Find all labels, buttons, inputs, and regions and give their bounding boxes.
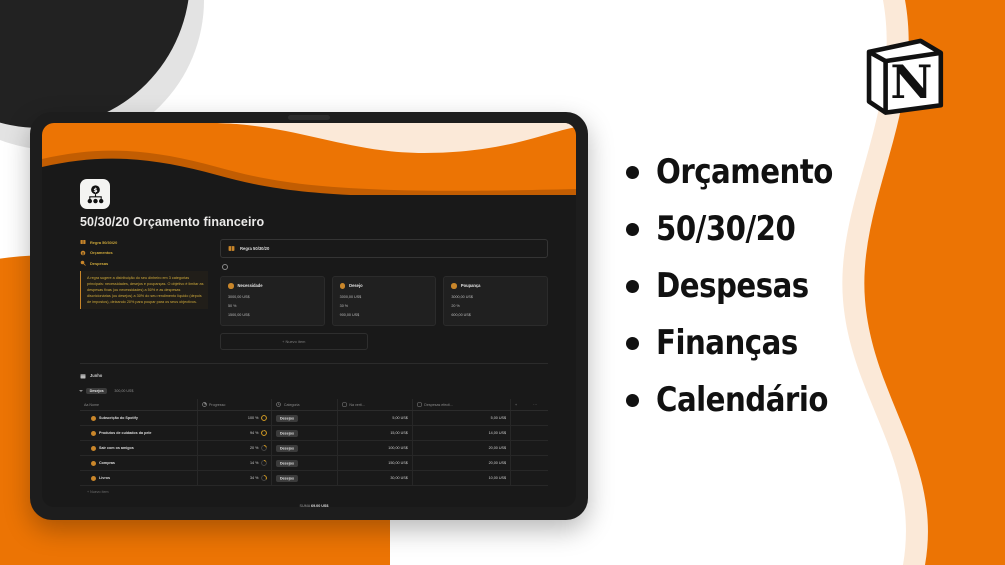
table-sum-row: SUMA 69,00 US$ xyxy=(80,498,548,507)
bullet-label: Finanças xyxy=(656,326,798,360)
row-name: Livros xyxy=(99,476,110,482)
circle-spinner-icon xyxy=(222,264,228,270)
budget-card-name: Desejo xyxy=(349,283,362,288)
bullet-dot-icon xyxy=(626,166,639,179)
bullet-label: Despesas xyxy=(656,269,809,303)
row-planned: 30,00 US$ xyxy=(337,471,412,486)
sidebar-item-label: Regra 50/30/20 xyxy=(90,240,117,245)
sidebar-item-regra[interactable]: Regra 50/30/20 xyxy=(80,239,208,245)
bullet-dot-icon xyxy=(626,280,639,293)
row-category: Desejos xyxy=(276,460,297,467)
coin-icon xyxy=(91,416,96,421)
row-progress: 94 % xyxy=(250,431,258,435)
sidebar-item-despesas[interactable]: Despesas xyxy=(80,260,208,266)
notion-page-cover xyxy=(42,123,576,195)
row-category: Desejos xyxy=(276,415,297,422)
row-planned: 5,00 US$ xyxy=(337,411,412,426)
list-item: 50/30/20 xyxy=(626,212,926,246)
progress-ring-icon xyxy=(261,415,267,421)
budget-card[interactable]: Desejo 3000,00 US$ 30 % 900,00 US$ xyxy=(332,276,437,326)
table-header-label: Aa Nome xyxy=(84,403,99,407)
coin-icon xyxy=(451,283,457,289)
page-right-column: Regra 50/30/20 Necessidade 3000,00 US$ 5… xyxy=(220,239,548,350)
svg-text:$: $ xyxy=(93,187,97,194)
tablet-device-mockup: $ 50/30/20 Orçamento financeiro Regra 50… xyxy=(30,112,588,520)
coin-icon xyxy=(91,476,96,481)
section-divider xyxy=(80,363,548,364)
table-header-label: Despesas efecti... xyxy=(424,403,453,407)
row-planned: 150,00 US$ xyxy=(337,456,412,471)
month-label: Junho xyxy=(90,373,102,378)
linked-page-regra[interactable]: Regra 50/30/20 xyxy=(220,239,548,258)
progress-icon xyxy=(202,402,207,407)
table-row[interactable]: Subscrição do Spotify 100 % Desejos 5,00… xyxy=(80,411,548,426)
row-actual: 14,00 US$ xyxy=(412,426,510,441)
row-progress: 34 % xyxy=(250,476,258,480)
row-planned: 15,00 US$ xyxy=(337,426,412,441)
receipt-icon xyxy=(80,260,86,266)
page-icon: $ xyxy=(80,179,110,209)
formula-icon xyxy=(342,402,347,407)
table-row[interactable]: Livros 34 % Desejos 30,00 US$ 10,00 US$ xyxy=(80,471,548,486)
row-name: Sair com os amigos xyxy=(99,446,134,452)
budget-card-percent: 30 % xyxy=(340,304,429,308)
budget-card-amount: 3000,00 US$ xyxy=(228,295,317,299)
notion-page-content: 50/30/20 Orçamento financeiro Regra 50/3… xyxy=(42,195,576,507)
column-header-na-vertical[interactable]: Na verti... xyxy=(337,399,412,411)
coin-icon xyxy=(91,431,96,436)
budget-card[interactable]: Necessidade 3000,00 US$ 50 % 1500,00 US$ xyxy=(220,276,325,326)
row-actual: 10,00 US$ xyxy=(412,471,510,486)
sidebar-item-label: Orçamentos xyxy=(90,250,113,255)
sum-label: SUMA xyxy=(300,504,310,507)
row-name: Subscrição do Spotify xyxy=(99,416,138,422)
notion-logo-letter: N xyxy=(890,55,932,109)
book-icon xyxy=(228,245,235,252)
page-title: 50/30/20 Orçamento financeiro xyxy=(80,215,548,229)
linked-page-label: Regra 50/30/20 xyxy=(240,246,269,251)
coin-icon xyxy=(91,446,96,451)
budget-card-percent: 20 % xyxy=(451,304,540,308)
chevron-down-icon[interactable] xyxy=(79,390,83,392)
database-group-header[interactable]: Desejos 300,00 US$ xyxy=(80,388,548,395)
budget-card-percent: 50 % xyxy=(228,304,317,308)
formula-icon xyxy=(417,402,422,407)
table-more-options-button[interactable]: ··· xyxy=(529,399,548,411)
column-header-name[interactable]: Aa Nome xyxy=(80,399,197,411)
bullet-label: Calendário xyxy=(656,383,828,417)
table-header-label: Progresso xyxy=(209,403,225,407)
row-actual: 20,00 US$ xyxy=(412,456,510,471)
row-name: Produtos de cuidados da pele xyxy=(99,431,151,437)
row-planned: 100,00 US$ xyxy=(337,441,412,456)
callout-block: A regra sugere a distribuição do seu din… xyxy=(80,271,208,309)
row-category: Desejos xyxy=(276,445,297,452)
list-item: Despesas xyxy=(626,269,926,303)
bullet-dot-icon xyxy=(626,337,639,350)
progress-ring-icon xyxy=(261,430,267,436)
coin-icon: $ xyxy=(80,250,86,256)
bullet-label: Orçamento xyxy=(656,155,833,189)
expenses-table: Aa Nome Progresso Categoria xyxy=(80,399,548,486)
month-heading: Junho xyxy=(80,373,548,379)
row-actual: 5,00 US$ xyxy=(412,411,510,426)
table-row[interactable]: Compras 14 % Desejos 150,00 US$ 20,00 US… xyxy=(80,456,548,471)
budget-card-result: 900,00 US$ xyxy=(340,313,429,317)
bullet-dot-icon xyxy=(626,394,639,407)
budget-card-result: 600,00 US$ xyxy=(451,313,540,317)
row-actual: 20,00 US$ xyxy=(412,441,510,456)
budget-card-name: Necessidade xyxy=(238,283,263,288)
new-item-button[interactable]: + Nuevo ítem xyxy=(220,333,368,350)
notion-logo: N xyxy=(858,28,950,120)
book-icon xyxy=(80,239,86,245)
add-row-button[interactable]: + Nuevo ítem xyxy=(80,486,548,498)
calendar-icon xyxy=(80,373,86,379)
coin-icon xyxy=(228,283,234,289)
row-progress: 14 % xyxy=(250,461,258,465)
list-item: Orçamento xyxy=(626,155,926,189)
sidebar-item-orcamentos[interactable]: $ Orçamentos xyxy=(80,250,208,256)
row-progress: 100 % xyxy=(248,416,258,420)
group-sum: 300,00 US$ xyxy=(114,389,133,393)
group-tag: Desejos xyxy=(86,388,107,395)
table-header-label: Categoria xyxy=(284,403,300,407)
row-progress: 20 % xyxy=(250,446,258,450)
budget-card[interactable]: Poupança 3000,00 US$ 20 % 600,00 US$ xyxy=(443,276,548,326)
table-row[interactable]: Sair com os amigos 20 % Desejos 100,00 U… xyxy=(80,441,548,456)
progress-ring-icon xyxy=(261,445,267,451)
coin-icon xyxy=(340,283,346,289)
column-header-progresso[interactable]: Progresso xyxy=(197,399,272,411)
list-item: Finanças xyxy=(626,326,926,360)
select-icon xyxy=(276,402,281,407)
bullet-label: 50/30/20 xyxy=(656,212,795,246)
budget-card-name: Poupança xyxy=(461,283,481,288)
decor-circle-dark xyxy=(0,0,190,128)
money-distribution-icon: $ xyxy=(85,184,106,205)
bullet-dot-icon xyxy=(626,223,639,236)
progress-ring-icon xyxy=(261,460,267,466)
page-left-column: Regra 50/30/20 $ Orçamentos Despesas xyxy=(80,239,208,350)
tablet-screen: $ 50/30/20 Orçamento financeiro Regra 50… xyxy=(42,123,576,507)
tablet-camera-icon xyxy=(288,115,330,120)
add-column-button[interactable]: + xyxy=(511,399,530,411)
feature-bullet-list: Orçamento 50/30/20 Despesas Finanças Cal… xyxy=(626,155,926,440)
table-row[interactable]: Produtos de cuidados da pele 94 % Desejo… xyxy=(80,426,548,441)
table-header-label: Na verti... xyxy=(349,403,364,407)
budget-card-amount: 3000,00 US$ xyxy=(451,295,540,299)
table-header-row: Aa Nome Progresso Categoria xyxy=(80,399,548,411)
column-header-despesas-efectivas[interactable]: Despesas efecti... xyxy=(412,399,510,411)
sum-value: 69,00 US$ xyxy=(311,504,328,507)
list-item: Calendário xyxy=(626,383,926,417)
row-category: Desejos xyxy=(276,475,297,482)
budget-card-list: Necessidade 3000,00 US$ 50 % 1500,00 US$… xyxy=(220,276,548,326)
row-name: Compras xyxy=(99,461,115,467)
column-header-categoria[interactable]: Categoria xyxy=(272,399,338,411)
progress-ring-icon xyxy=(261,475,267,481)
budget-card-result: 1500,00 US$ xyxy=(228,313,317,317)
coin-icon xyxy=(91,461,96,466)
budget-card-amount: 3000,00 US$ xyxy=(340,295,429,299)
sidebar-item-label: Despesas xyxy=(90,261,108,266)
row-category: Desejos xyxy=(276,430,297,437)
